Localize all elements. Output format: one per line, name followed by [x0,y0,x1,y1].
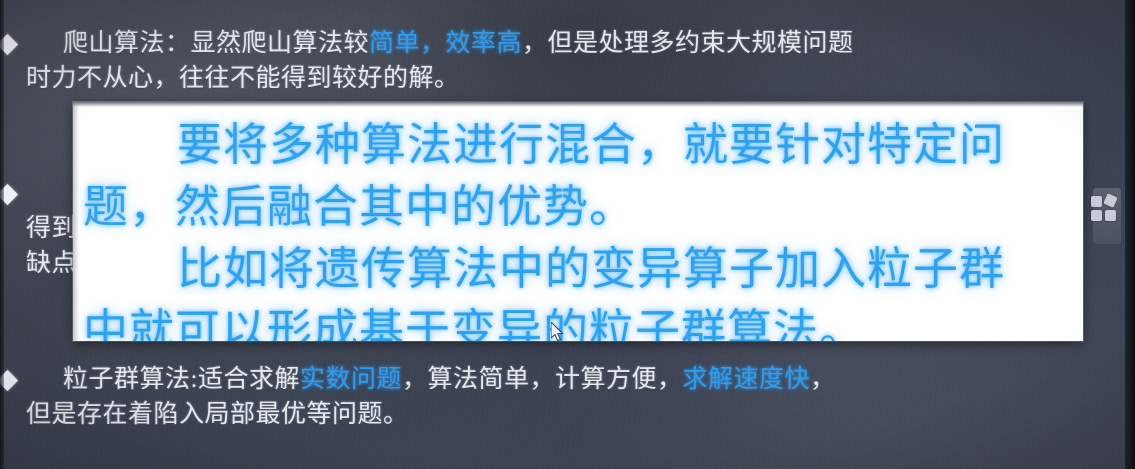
white-overlay-panel: 要将多种算法进行混合，就要针对特定问 题，然后融合其中的优势。 比如将遗传算法中… [73,102,1083,341]
bullet-3-text-pre: 粒子群算法:适合求解 [63,366,300,393]
overlay-line-2: 题，然后融合其中的优势。 [73,176,1083,238]
grid-square-bottom-right [1105,210,1116,221]
mouse-cursor [551,322,567,344]
bullet-3-highlight-1: 实数问题 [300,366,402,393]
bullet-1-text-pre: 爬山算法：显然爬山算法较 [63,30,369,57]
diamond-bullet-icon [0,34,18,55]
diamond-bullet-icon [0,184,18,205]
bullet-3-highlight-2: 求解速度快 [682,366,810,393]
grid-square-top-right [1103,193,1118,208]
overlay-top-shadow [73,102,1083,107]
bullet-3-line-1: 粒子群算法:适合求解实数问题，算法简单，计算方便，求解速度快， [0,362,1135,397]
bullet-1-highlight: 简单，效率高 [369,30,522,57]
bullet-1-line-2: 时力不从心，往往不能得到较好的解。 [0,61,1135,96]
grid-square-bottom-left [1091,210,1102,221]
overlay-line-4: 中就可以形成基于变异的粒子群算法。 [73,300,1083,341]
slide-canvas: 爬山算法：显然爬山算法较简单，效率高，但是处理多约束大规模问题 时力不从心，往往… [0,0,1135,469]
diamond-bullet-icon [0,370,18,391]
bullet-3-text-mid: ，算法简单，计算方便， [402,366,683,393]
bullet-1-text-post: ，但是处理多约束大规模问题 [522,30,854,57]
apps-grid-icon[interactable] [1091,196,1121,224]
bullet-item-1: 爬山算法：显然爬山算法较简单，效率高，但是处理多约束大规模问题 时力不从心，往往… [0,26,1135,96]
grid-square-top-left [1091,196,1102,207]
bullet-3-text-post: ， [810,366,836,393]
bullet-3-line-2: 但是存在着陷入局部最优等问题。 [0,397,1135,432]
overlay-line-1: 要将多种算法进行混合，就要针对特定问 [73,114,1083,176]
bullet-item-3: 粒子群算法:适合求解实数问题，算法简单，计算方便，求解速度快， 但是存在着陷入局… [0,362,1135,432]
bullet-1-line-1: 爬山算法：显然爬山算法较简单，效率高，但是处理多约束大规模问题 [0,26,1135,61]
overlay-text-block: 要将多种算法进行混合，就要针对特定问 题，然后融合其中的优势。 比如将遗传算法中… [73,114,1083,341]
overlay-line-3: 比如将遗传算法中的变异算子加入粒子群 [73,238,1083,300]
